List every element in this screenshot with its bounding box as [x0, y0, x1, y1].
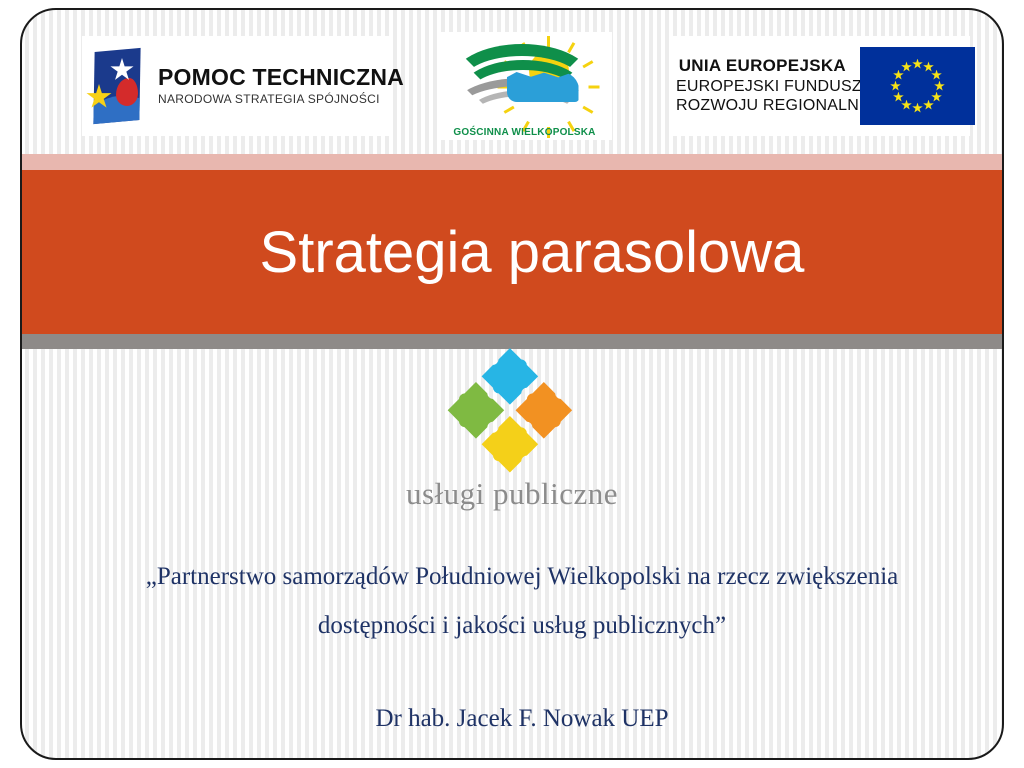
sun-ray — [567, 42, 575, 53]
eu-star-icon — [923, 61, 934, 72]
water-shape — [507, 72, 579, 102]
nss-red-shape — [116, 78, 138, 106]
eu-star-icon — [931, 70, 942, 81]
eu-star-icon — [912, 103, 923, 114]
goscinna-wielkopolska-logo: GOŚCINNA WIELKOPOLSKA — [437, 32, 612, 140]
sponsor-logo-strip: POMOC TECHNICZNA NARODOWA STRATEGIA SPÓJ… — [22, 28, 1002, 146]
puzzle-icon — [441, 340, 584, 483]
slide-author: Dr hab. Jacek F. Nowak UEP — [112, 705, 932, 733]
eu-star-icon — [890, 81, 901, 92]
pomoc-techniczna-text: POMOC TECHNICZNA NARODOWA STRATEGIA SPÓJ… — [158, 65, 404, 107]
unia-europejska-logo: UNIA EUROPEJSKA EUROPEJSKI FUNDUSZ ROZWO… — [670, 36, 970, 136]
goscinna-emblem-icon: GOŚCINNA WIELKOPOLSKA — [445, 34, 605, 138]
pomoc-techniczna-subtitle: NARODOWA STRATEGIA SPÓJNOŚCI — [158, 92, 404, 106]
page-title: Strategia parasolowa — [22, 170, 1002, 334]
pomoc-techniczna-title: POMOC TECHNICZNA — [158, 65, 404, 89]
eu-star-icon — [934, 81, 945, 92]
eu-star-icon — [893, 70, 904, 81]
quote-line-2: dostępności i jakości usług publicznych” — [112, 602, 932, 651]
slide-quote: „Partnerstwo samorządów Południowej Wiel… — [112, 553, 932, 651]
eu-line-2: EUROPEJSKI FUNDUSZ — [676, 77, 846, 97]
eu-flag-icon — [860, 47, 975, 125]
presentation-slide: POMOC TECHNICZNA NARODOWA STRATEGIA SPÓJ… — [0, 0, 1024, 768]
eu-star-icon — [931, 92, 942, 103]
slide-card: POMOC TECHNICZNA NARODOWA STRATEGIA SPÓJ… — [20, 8, 1004, 760]
eu-star-icon — [901, 61, 912, 72]
quote-line-1: „Partnerstwo samorządów Południowej Wiel… — [112, 553, 932, 602]
eu-star-icon — [912, 59, 923, 70]
eu-line-3: ROZWOJU REGIONALNEGO — [676, 96, 846, 116]
sun-ray — [547, 36, 550, 47]
eu-star-icon — [923, 100, 934, 111]
eu-line-1: UNIA EUROPEJSKA — [676, 56, 846, 77]
eu-star-icon — [893, 92, 904, 103]
pomoc-techniczna-logo: POMOC TECHNICZNA NARODOWA STRATEGIA SPÓJ… — [82, 36, 392, 136]
unia-europejska-text: UNIA EUROPEJSKA EUROPEJSKI FUNDUSZ ROZWO… — [676, 56, 846, 116]
title-band-top-accent — [22, 154, 1002, 170]
nss-emblem-icon — [86, 44, 148, 128]
uslugi-publiczne-logo: usługi publiczne — [22, 362, 1002, 512]
goscinna-caption: GOŚCINNA WIELKOPOLSKA — [445, 127, 605, 138]
eu-star-icon — [901, 100, 912, 111]
